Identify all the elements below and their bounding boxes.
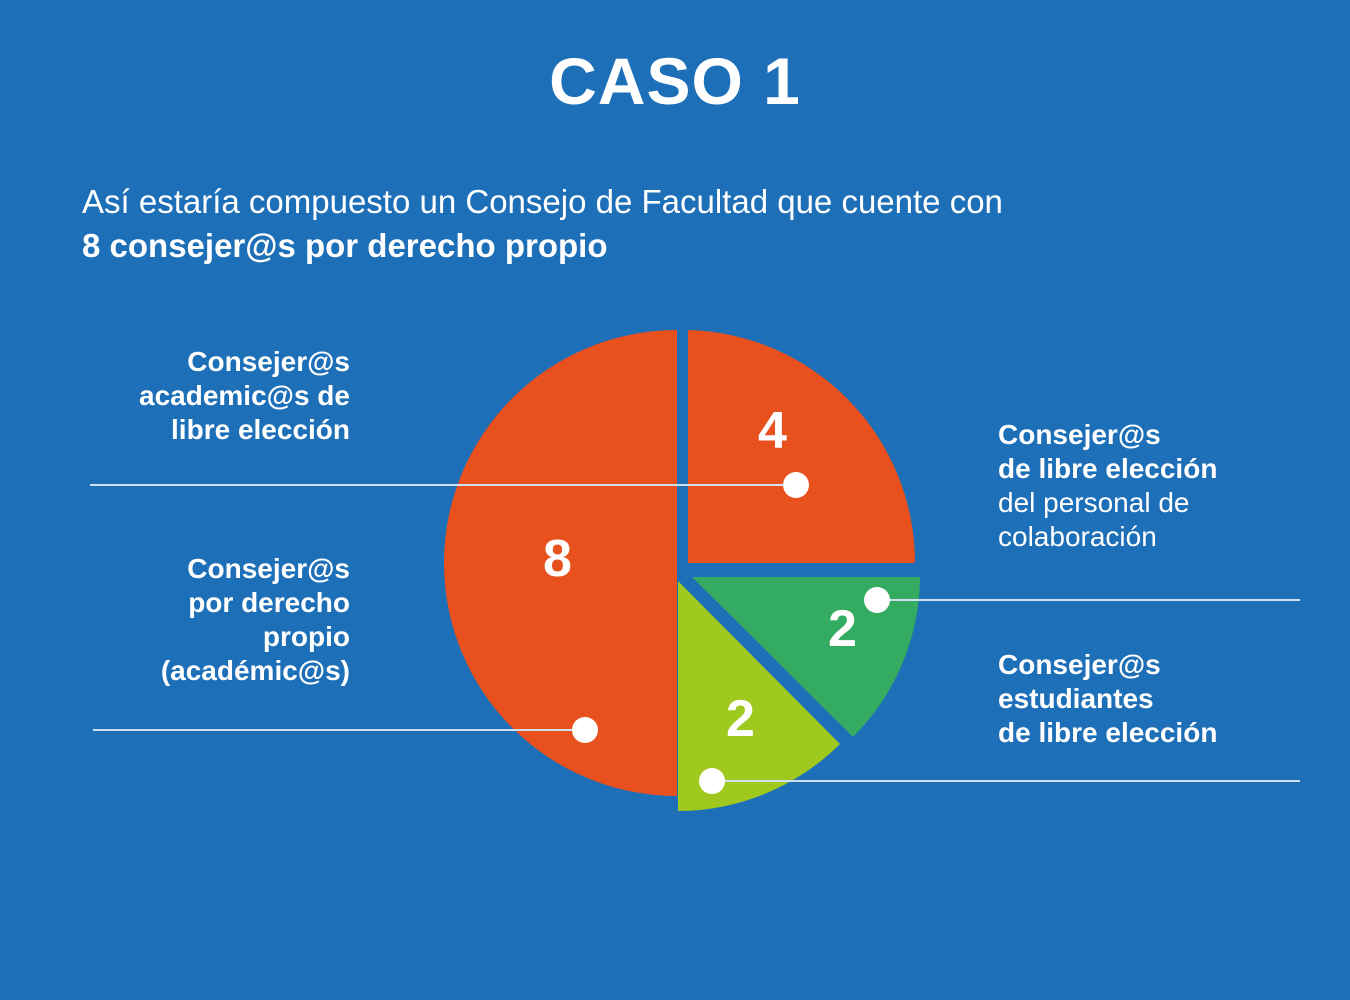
callout-estudiantes-line-3: de libre elección [998,716,1308,750]
callout-personal-line-1: Consejer@s [998,418,1308,452]
callout-derecho-line-3: propio [60,620,350,654]
callout-estudiantes-line-2: estudiantes [998,682,1308,716]
callout-derecho-line-1: Consejer@s [60,552,350,586]
slice-value-personal-colaboracion: 2 [828,603,857,655]
leader-line-estudiantes [712,780,1300,782]
callout-personal-colaboracion: Consejer@s de libre elección del persona… [998,418,1308,555]
leader-dot-derecho-propio [572,717,598,743]
callout-estudiantes-line-1: Consejer@s [998,648,1308,682]
pie-chart-svg [430,305,960,835]
callout-estudiantes: Consejer@s estudiantes de libre elección [998,648,1308,750]
leader-line-personal-colaboracion [877,599,1300,601]
infographic-root: CASO 1 Así estaría compuesto un Consejo … [0,0,1350,1000]
callout-derecho-propio: Consejer@s por derecho propio (académic@… [60,552,350,689]
pie-slice-academicos-libre-eleccion[interactable] [688,330,915,563]
callout-personal-line-4: colaboración [998,520,1308,554]
callout-personal-line-3: del personal de [998,486,1308,520]
callout-academicos-libre-eleccion: Consejer@s academic@s de libre elección [60,345,350,447]
slice-value-estudiantes: 2 [726,693,755,745]
leader-line-derecho-propio [93,729,585,731]
leader-dot-estudiantes [699,768,725,794]
callout-academicos-line-3: libre elección [60,413,350,447]
leader-dot-academicos [783,472,809,498]
callout-personal-line-2: de libre elección [998,452,1308,486]
leader-line-academicos [90,484,796,486]
slice-value-academicos: 4 [758,405,787,457]
callout-academicos-line-1: Consejer@s [60,345,350,379]
leader-dot-personal-colaboracion [864,587,890,613]
callout-academicos-line-2: academic@s de [60,379,350,413]
slice-value-derecho-propio: 8 [543,533,572,585]
callout-derecho-line-2: por derecho [60,586,350,620]
callout-derecho-line-4: (académic@s) [60,654,350,688]
